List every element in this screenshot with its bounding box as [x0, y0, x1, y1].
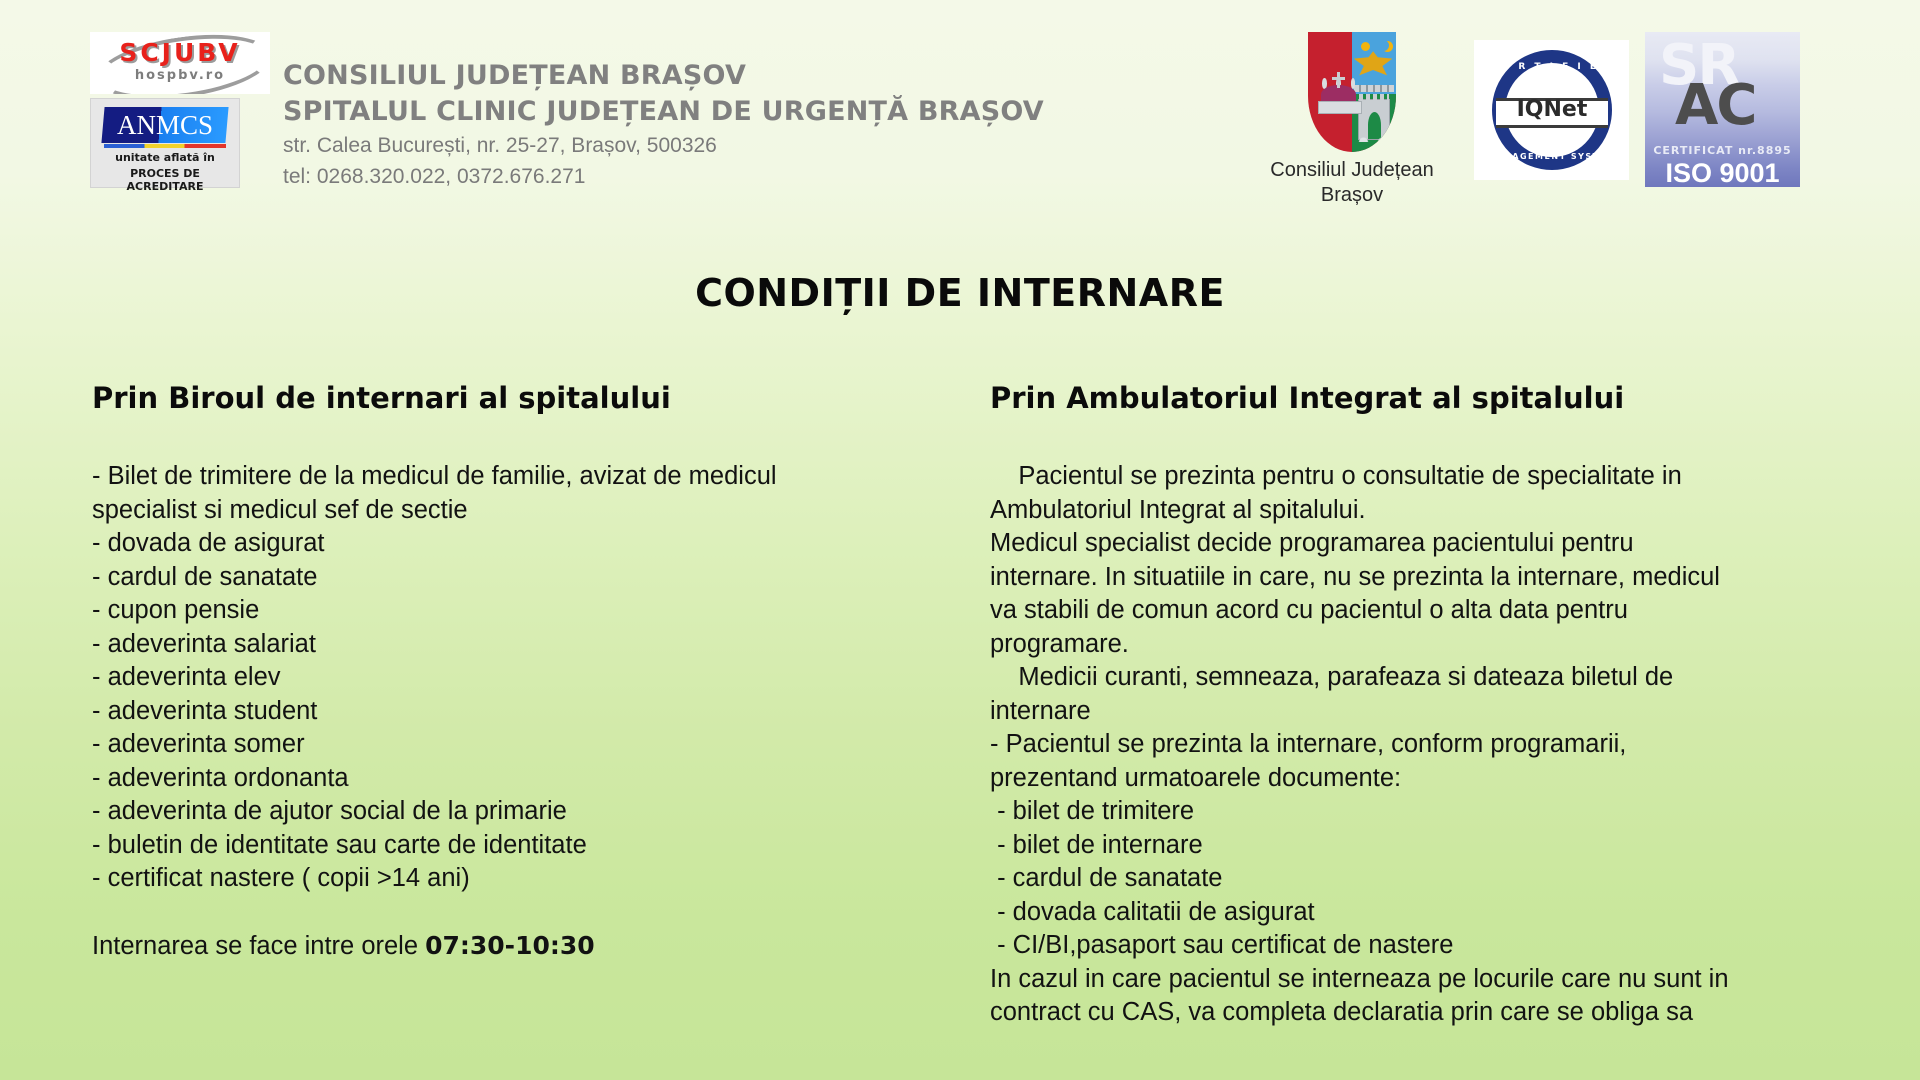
srac-iso-logo: SR AC CERTIFICAT nr.8895 ISO 9001 — [1645, 32, 1800, 187]
logo-column: SCJUBV hospbv.ro ANMCS unitate aflată în… — [90, 32, 270, 94]
paragraph-line: - Pacientul se prezinta la internare, co… — [990, 728, 1840, 762]
paragraph-line: Medicii curanti, semneaza, parafeaza si … — [990, 661, 1840, 695]
list-item: - dovada de asigurat — [92, 527, 912, 561]
list-item: - Bilet de trimitere de la medicul de fa… — [92, 460, 912, 494]
list-item: - adeverinta elev — [92, 661, 912, 695]
paragraph-line: Ambulatoriul Integrat al spitalului. — [990, 494, 1840, 528]
document-page: SCJUBV hospbv.ro ANMCS unitate aflată în… — [0, 0, 1920, 1080]
list-item: - adeverinta student — [92, 695, 912, 729]
hospital-address: str. Calea București, nr. 25-27, Brașov,… — [283, 130, 1044, 161]
anmcs-status-line2: PROCES DE ACREDITARE — [91, 167, 239, 193]
admission-schedule-hours: 07:30-10:30 — [425, 931, 595, 960]
list-item: - buletin de identitate sau carte de ide… — [92, 829, 912, 863]
list-item: - dovada calitatii de asigurat — [990, 896, 1840, 930]
county-council-caption: Consiliul Județean Brașov — [1262, 158, 1442, 208]
paragraph-line: internare. In situatiile in care, nu se … — [990, 561, 1840, 595]
romania-flag-stripe-icon — [104, 144, 226, 148]
paragraph-line: Medicul specialist decide programarea pa… — [990, 527, 1840, 561]
anmcs-acronym: ANMCS — [103, 107, 227, 143]
scjubv-hospital-logo: SCJUBV hospbv.ro — [90, 32, 270, 94]
spacer — [92, 896, 912, 929]
iqnet-certified-text: C E R T I F I E D — [1474, 62, 1629, 72]
paragraph-line: prezentand urmatoarele documente: — [990, 762, 1840, 796]
list-item: - cardul de sanatate — [92, 561, 912, 595]
srac-bottom-letters: AC — [1675, 78, 1755, 134]
county-council-caption-line1: Consiliul Județean — [1262, 158, 1442, 183]
list-item: - adeverinta ordonanta — [92, 762, 912, 796]
srac-certificate-number: CERTIFICAT nr.8895 — [1645, 144, 1800, 157]
county-council-title: CONSILIUL JUDEȚEAN BRAȘOV — [283, 58, 1044, 94]
list-item: specialist si medicul sef de sectie — [92, 494, 912, 528]
right-column: Prin Ambulatoriul Integrat al spitalului… — [990, 380, 1840, 1030]
list-item: - adeverinta somer — [92, 728, 912, 762]
list-item: - cardul de sanatate — [990, 862, 1840, 896]
county-council-caption-line2: Brașov — [1262, 183, 1442, 208]
admission-schedule: Internarea se face intre orele 07:30-10:… — [92, 929, 912, 964]
list-item: - certificat nastere ( copii >14 ani) — [92, 862, 912, 896]
paragraph-line: contract cu CAS, va completa declaratia … — [990, 996, 1840, 1030]
organisation-identity-block: CONSILIUL JUDEȚEAN BRAȘOV SPITALUL CLINI… — [283, 58, 1044, 192]
page-title: CONDIȚII DE INTERNARE — [0, 271, 1920, 315]
scjubv-brand-text: SCJUBV — [90, 38, 270, 67]
page-header: SCJUBV hospbv.ro ANMCS unitate aflată în… — [0, 0, 1920, 210]
paragraph-line: Pacientul se prezinta pentru o consultat… — [990, 460, 1840, 494]
paragraph-line: internare — [990, 695, 1840, 729]
list-item: - bilet de trimitere — [990, 795, 1840, 829]
left-column-heading: Prin Biroul de internari al spitalului — [92, 380, 912, 416]
hospital-phone: tel: 0268.320.022, 0372.676.271 — [283, 161, 1044, 192]
brasov-coat-of-arms-icon — [1308, 32, 1396, 152]
iqnet-wordmark: IQNet — [1496, 96, 1608, 124]
right-column-heading: Prin Ambulatoriul Integrat al spitalului — [990, 380, 1840, 416]
hospital-title: SPITALUL CLINIC JUDEȚEAN DE URGENȚĂ BRAȘ… — [283, 94, 1044, 130]
list-item: - cupon pensie — [92, 594, 912, 628]
anmcs-banner: ANMCS — [101, 107, 228, 143]
list-item: - adeverinta de ajutor social de la prim… — [92, 795, 912, 829]
srac-standard-label: ISO 9001 — [1645, 158, 1800, 187]
county-council-logo: Consiliul Județean Brașov — [1262, 32, 1442, 208]
anmcs-status-line1: unitate aflată în — [91, 151, 239, 164]
iqnet-management-system-text: MANAGEMENT SYSTEM — [1474, 152, 1629, 161]
anmcs-accreditation-logo: ANMCS unitate aflată în PROCES DE ACREDI… — [90, 98, 240, 188]
list-item: - CI/BI,pasaport sau certificat de naste… — [990, 929, 1840, 963]
scjubv-website-text: hospbv.ro — [90, 68, 270, 83]
admission-schedule-prefix: Internarea se face intre orele — [92, 932, 425, 960]
left-column: Prin Biroul de internari al spitalului -… — [92, 380, 912, 963]
paragraph-line: In cazul in care pacientul se interneaza… — [990, 963, 1840, 997]
list-item: - adeverinta salariat — [92, 628, 912, 662]
iqnet-certification-logo: C E R T I F I E D IQNet MANAGEMENT SYSTE… — [1474, 40, 1629, 180]
paragraph-line: programare. — [990, 628, 1840, 662]
list-item: - bilet de internare — [990, 829, 1840, 863]
paragraph-line: va stabili de comun acord cu pacientul o… — [990, 594, 1840, 628]
